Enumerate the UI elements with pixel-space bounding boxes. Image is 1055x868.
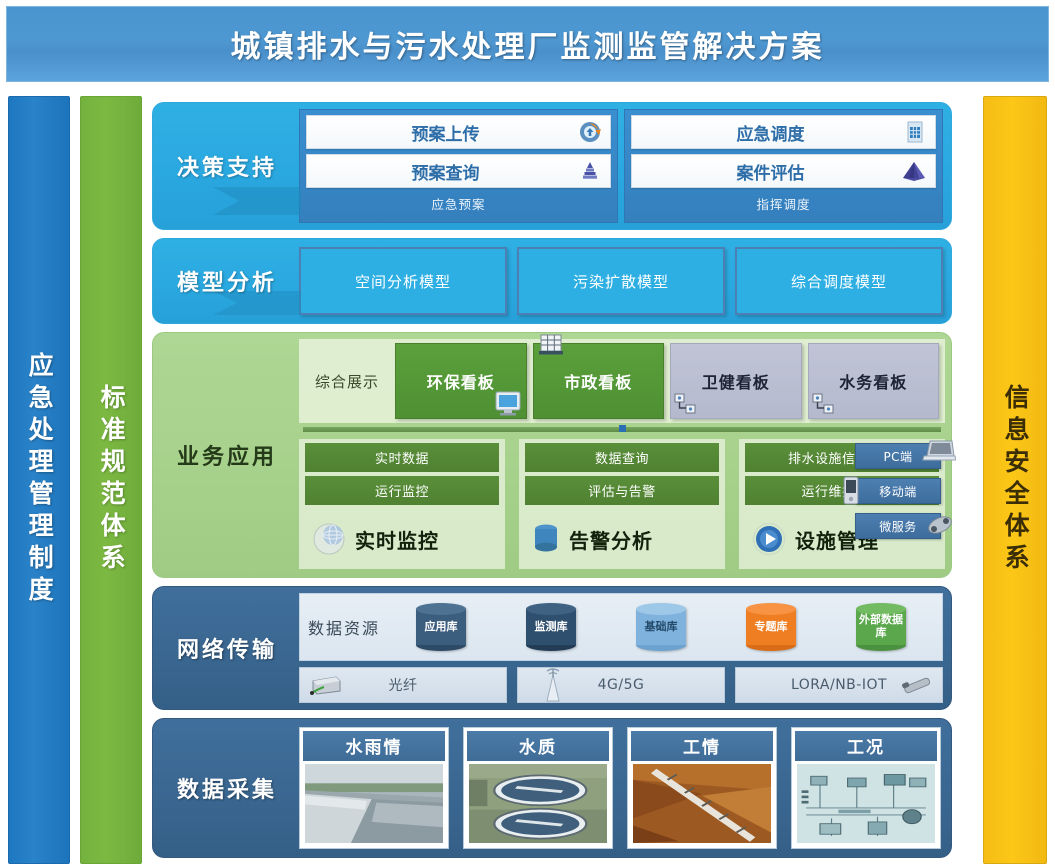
collect-card-title: 工情 xyxy=(631,731,773,761)
database-cell: 外部数据库 xyxy=(828,603,934,651)
decision-card-label: 应急调度 xyxy=(632,120,935,145)
function-chip[interactable]: 运行监控 xyxy=(305,476,499,505)
device-badge-microservice[interactable]: 微服务 xyxy=(855,513,941,539)
transport-lora-nbiot[interactable]: LORA/NB-IOT xyxy=(735,667,943,703)
decision-groups: 预案上传 预案查询 xyxy=(299,109,943,223)
network-node-icon xyxy=(811,392,835,416)
pyramid-layers-icon xyxy=(578,159,602,183)
function-chip[interactable]: 实时数据 xyxy=(305,443,499,472)
upload-cycle-icon xyxy=(578,120,602,144)
function-main-label: 实时监控 xyxy=(355,525,439,554)
page-title-bar: 城镇排水与污水处理厂监测监管解决方案 xyxy=(6,6,1049,82)
database-external[interactable]: 外部数据库 xyxy=(856,603,906,651)
device-badge-pc[interactable]: PC端 xyxy=(855,443,941,469)
function-chip[interactable]: 评估与告警 xyxy=(525,476,719,505)
grid-table-icon xyxy=(903,120,927,144)
laptop-icon xyxy=(922,438,956,464)
pillar-emergency-label: 应急处理管理制度 xyxy=(26,352,52,608)
database-label: 外部数据库 xyxy=(856,614,906,639)
database-label: 应用库 xyxy=(425,621,458,634)
model-items: 空间分析模型 污染扩散模型 综合调度模型 xyxy=(299,247,943,315)
decision-group-emergency-plan: 预案上传 预案查询 xyxy=(299,109,618,223)
board-health[interactable]: 卫健看板 xyxy=(670,343,802,419)
database-label: 监测库 xyxy=(535,621,568,634)
monitor-icon xyxy=(494,390,522,416)
decision-card-label: 预案查询 xyxy=(307,159,610,184)
collect-card-title: 水雨情 xyxy=(303,731,445,761)
layer-data-collection: 数据采集 水雨情 xyxy=(152,718,952,858)
business-application-label: 业务应用 xyxy=(153,333,301,577)
collect-items: 水雨情 水质 xyxy=(299,727,941,849)
database-application[interactable]: 应用库 xyxy=(416,603,466,651)
mobile-icon xyxy=(840,476,862,506)
page-title: 城镇排水与污水处理厂监测监管解决方案 xyxy=(231,22,825,66)
phone-icon xyxy=(925,511,955,539)
data-collection-label: 数据采集 xyxy=(153,719,301,857)
database-cell: 专题库 xyxy=(718,603,824,651)
database-label: 基础库 xyxy=(645,621,678,634)
decision-card-label: 预案上传 xyxy=(307,120,610,145)
device-badge-label: 微服务 xyxy=(879,518,917,535)
tower-icon xyxy=(540,667,566,703)
collect-card-water-quality[interactable]: 水质 xyxy=(463,727,613,849)
function-column-realtime: 实时数据 运行监控 xyxy=(299,439,505,569)
database-monitoring[interactable]: 监测库 xyxy=(526,603,576,651)
layer-decision-support: 决策支持 预案上传 预案查询 xyxy=(152,102,952,230)
decision-card-label: 案件评估 xyxy=(632,159,935,184)
board-label: 市政看板 xyxy=(564,369,632,393)
device-badges: PC端 移动端 xyxy=(855,443,941,539)
network-transmission-label: 网络传输 xyxy=(153,587,301,709)
treatment-pools-photo xyxy=(469,764,607,843)
model-analysis-label: 模型分析 xyxy=(153,239,301,323)
database-cell: 应用库 xyxy=(388,603,494,651)
function-chip[interactable]: 数据查询 xyxy=(525,443,719,472)
function-main-label: 告警分析 xyxy=(569,525,653,554)
sensor-icon xyxy=(900,673,936,697)
collect-card-title: 工况 xyxy=(795,731,937,761)
pipeline-trench-photo xyxy=(633,764,771,843)
layer-business-application: 业务应用 综合展示 环保看板 市政 xyxy=(152,332,952,578)
database-thematic[interactable]: 专题库 xyxy=(746,603,796,651)
pyramid-3d-icon xyxy=(901,159,927,183)
pillar-standard-label: 标准规范体系 xyxy=(98,384,124,576)
decision-card-emergency-dispatch[interactable]: 应急调度 xyxy=(631,115,936,149)
transport-label: LORA/NB-IOT xyxy=(791,677,887,693)
database-cell: 监测库 xyxy=(498,603,604,651)
collect-card-rainfall[interactable]: 水雨情 xyxy=(299,727,449,849)
decision-card-plan-upload[interactable]: 预案上传 xyxy=(306,115,611,149)
pillar-emergency-management: 应急处理管理制度 xyxy=(8,96,70,864)
board-label: 水务看板 xyxy=(839,369,907,393)
layer-network-transmission: 网络传输 数据资源 应用库 xyxy=(152,586,952,710)
decision-group-command-dispatch: 应急调度 xyxy=(624,109,943,223)
data-resources-row: 数据资源 应用库 监测库 xyxy=(299,593,943,661)
collect-card-project-status[interactable]: 工情 xyxy=(627,727,777,849)
network-inner: 数据资源 应用库 监测库 xyxy=(299,593,943,703)
collect-card-operating-condition[interactable]: 工况 xyxy=(791,727,941,849)
pillar-security-label: 信息安全体系 xyxy=(1002,384,1028,576)
board-label: 卫健看板 xyxy=(702,369,770,393)
transport-label: 光纤 xyxy=(389,675,418,695)
function-column-alarm: 数据查询 评估与告警 告警分析 xyxy=(519,439,725,569)
data-resources-caption: 数据资源 xyxy=(308,615,380,639)
collect-card-title: 水质 xyxy=(467,731,609,761)
divider-dot xyxy=(619,425,626,432)
decision-support-label: 决策支持 xyxy=(153,103,301,229)
decision-card-case-assessment[interactable]: 案件评估 xyxy=(631,154,936,188)
database-basic[interactable]: 基础库 xyxy=(636,603,686,651)
device-badge-mobile[interactable]: 移动端 xyxy=(855,478,941,504)
boards-caption: 综合展示 xyxy=(305,343,389,419)
database-icon xyxy=(529,519,563,559)
decision-group-caption: 应急预案 xyxy=(306,193,611,213)
boards-divider xyxy=(303,427,941,432)
decision-group-caption: 指挥调度 xyxy=(631,193,936,213)
model-box-label: 空间分析模型 xyxy=(355,271,451,292)
layer-model-analysis: 模型分析 空间分析模型 污染扩散模型 综合调度模型 xyxy=(152,238,952,324)
model-box-label: 污染扩散模型 xyxy=(573,271,669,292)
model-box-pollution[interactable]: 污染扩散模型 xyxy=(517,247,725,315)
scada-diagram-photo xyxy=(797,764,935,843)
database-cell: 基础库 xyxy=(608,603,714,651)
switch-icon xyxy=(308,673,342,697)
canal-photo xyxy=(305,764,443,843)
transport-label: 4G/5G xyxy=(598,677,645,693)
architecture-stack: 决策支持 预案上传 预案查询 xyxy=(152,96,952,864)
globe-icon xyxy=(309,519,349,559)
decision-card-plan-query[interactable]: 预案查询 xyxy=(306,154,611,188)
play-circle-icon xyxy=(749,519,789,559)
function-main-alarm-analysis[interactable]: 告警分析 xyxy=(525,509,719,569)
board-environment[interactable]: 环保看板 xyxy=(395,343,527,419)
board-label: 环保看板 xyxy=(427,369,495,393)
building-icon xyxy=(538,332,564,358)
pillar-standard-system: 标准规范体系 xyxy=(80,96,142,864)
pillar-information-security: 信息安全体系 xyxy=(983,96,1047,864)
transport-4g5g[interactable]: 4G/5G xyxy=(517,667,725,703)
function-main-realtime-monitor[interactable]: 实时监控 xyxy=(305,509,499,569)
model-box-spatial[interactable]: 空间分析模型 xyxy=(299,247,507,315)
model-box-label: 综合调度模型 xyxy=(791,271,887,292)
network-node-icon xyxy=(673,392,697,416)
board-water-affairs[interactable]: 水务看板 xyxy=(808,343,940,419)
transport-row: 光纤 4G/5G LORA/NB-IOT xyxy=(299,667,943,703)
board-municipal[interactable]: 市政看板 xyxy=(533,343,665,419)
model-box-dispatch[interactable]: 综合调度模型 xyxy=(735,247,943,315)
database-label: 专题库 xyxy=(755,621,788,634)
business-inner: 综合展示 环保看板 市政看板 xyxy=(299,339,945,571)
boards-strip: 综合展示 环保看板 市政看板 xyxy=(299,339,945,423)
transport-fiber[interactable]: 光纤 xyxy=(299,667,507,703)
device-badge-label: PC端 xyxy=(883,448,912,465)
device-badge-label: 移动端 xyxy=(879,483,917,500)
